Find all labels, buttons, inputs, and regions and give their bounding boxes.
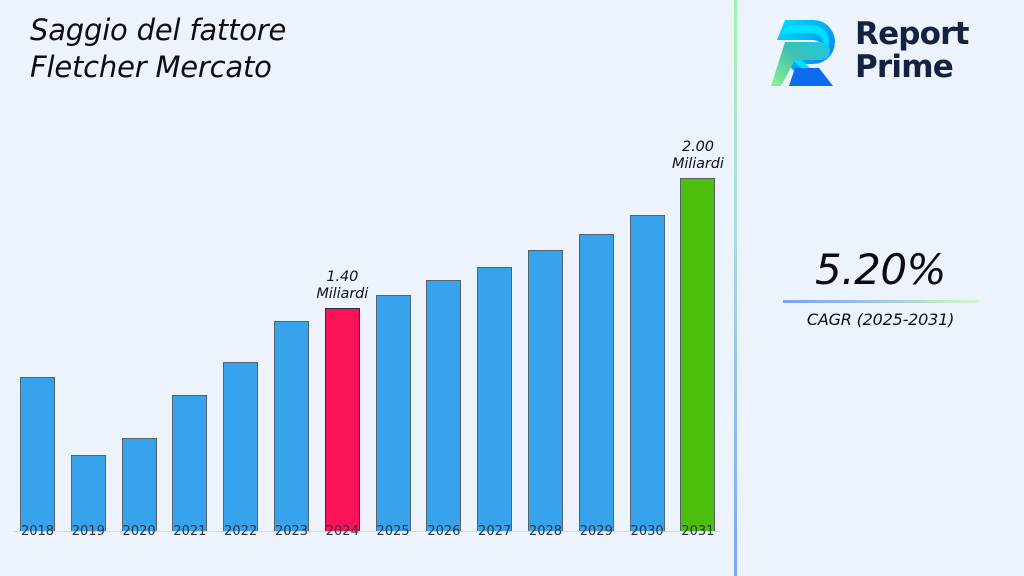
bar-2031 <box>680 178 715 531</box>
bar-2023 <box>274 321 309 531</box>
x-axis-tick-2022: 2022 <box>216 524 265 539</box>
x-axis-tick-2021: 2021 <box>165 524 214 539</box>
bar-2026 <box>426 280 461 531</box>
bar-2027 <box>477 267 512 531</box>
bar-2018 <box>20 377 55 531</box>
x-axis-tick-2031: 2031 <box>673 524 722 539</box>
report-prime-r-logo-icon <box>771 12 845 90</box>
bar-2024 <box>325 308 360 531</box>
x-axis-tick-2019: 2019 <box>64 524 113 539</box>
cagr-block: 5.20% CAGR (2025-2031) <box>737 248 1024 329</box>
cagr-divider <box>783 300 979 303</box>
x-axis-tick-2023: 2023 <box>267 524 316 539</box>
bar-2022 <box>223 362 258 531</box>
bar-2028 <box>528 250 563 532</box>
brand-name: Report Prime <box>855 18 969 84</box>
x-axis-tick-2026: 2026 <box>419 524 468 539</box>
cagr-value: 5.20% <box>737 248 1024 292</box>
infographic-root: Saggio del fattore Fletcher Mercato 2018… <box>0 0 1024 576</box>
bar-callout-2024: 1.40 Miliardi <box>293 269 392 304</box>
x-axis-tick-2029: 2029 <box>572 524 621 539</box>
bar-chart-plot: 2018201920202021202220232024202520262027… <box>0 0 735 576</box>
x-axis-tick-2018: 2018 <box>13 524 62 539</box>
bar-2020 <box>122 438 157 531</box>
bar-2030 <box>630 215 665 531</box>
report-prime-logo: Report Prime <box>771 12 969 90</box>
brand-panel: Report Prime 5.20% CAGR (2025-2031) <box>737 0 1024 576</box>
bar-2021 <box>172 395 207 531</box>
bar-2019 <box>71 455 106 531</box>
x-axis-tick-2020: 2020 <box>115 524 164 539</box>
cagr-label: CAGR (2025-2031) <box>737 310 1024 329</box>
bar-2025 <box>376 295 411 531</box>
x-axis-tick-2027: 2027 <box>470 524 519 539</box>
x-axis-tick-2030: 2030 <box>623 524 672 539</box>
bar-callout-2031: 2.00 Miliardi <box>648 139 747 174</box>
x-axis-tick-2025: 2025 <box>369 524 418 539</box>
bar-2029 <box>579 234 614 531</box>
chart-panel: Saggio del fattore Fletcher Mercato 2018… <box>0 0 735 576</box>
x-axis-tick-2024: 2024 <box>318 524 367 539</box>
x-axis-tick-2028: 2028 <box>521 524 570 539</box>
